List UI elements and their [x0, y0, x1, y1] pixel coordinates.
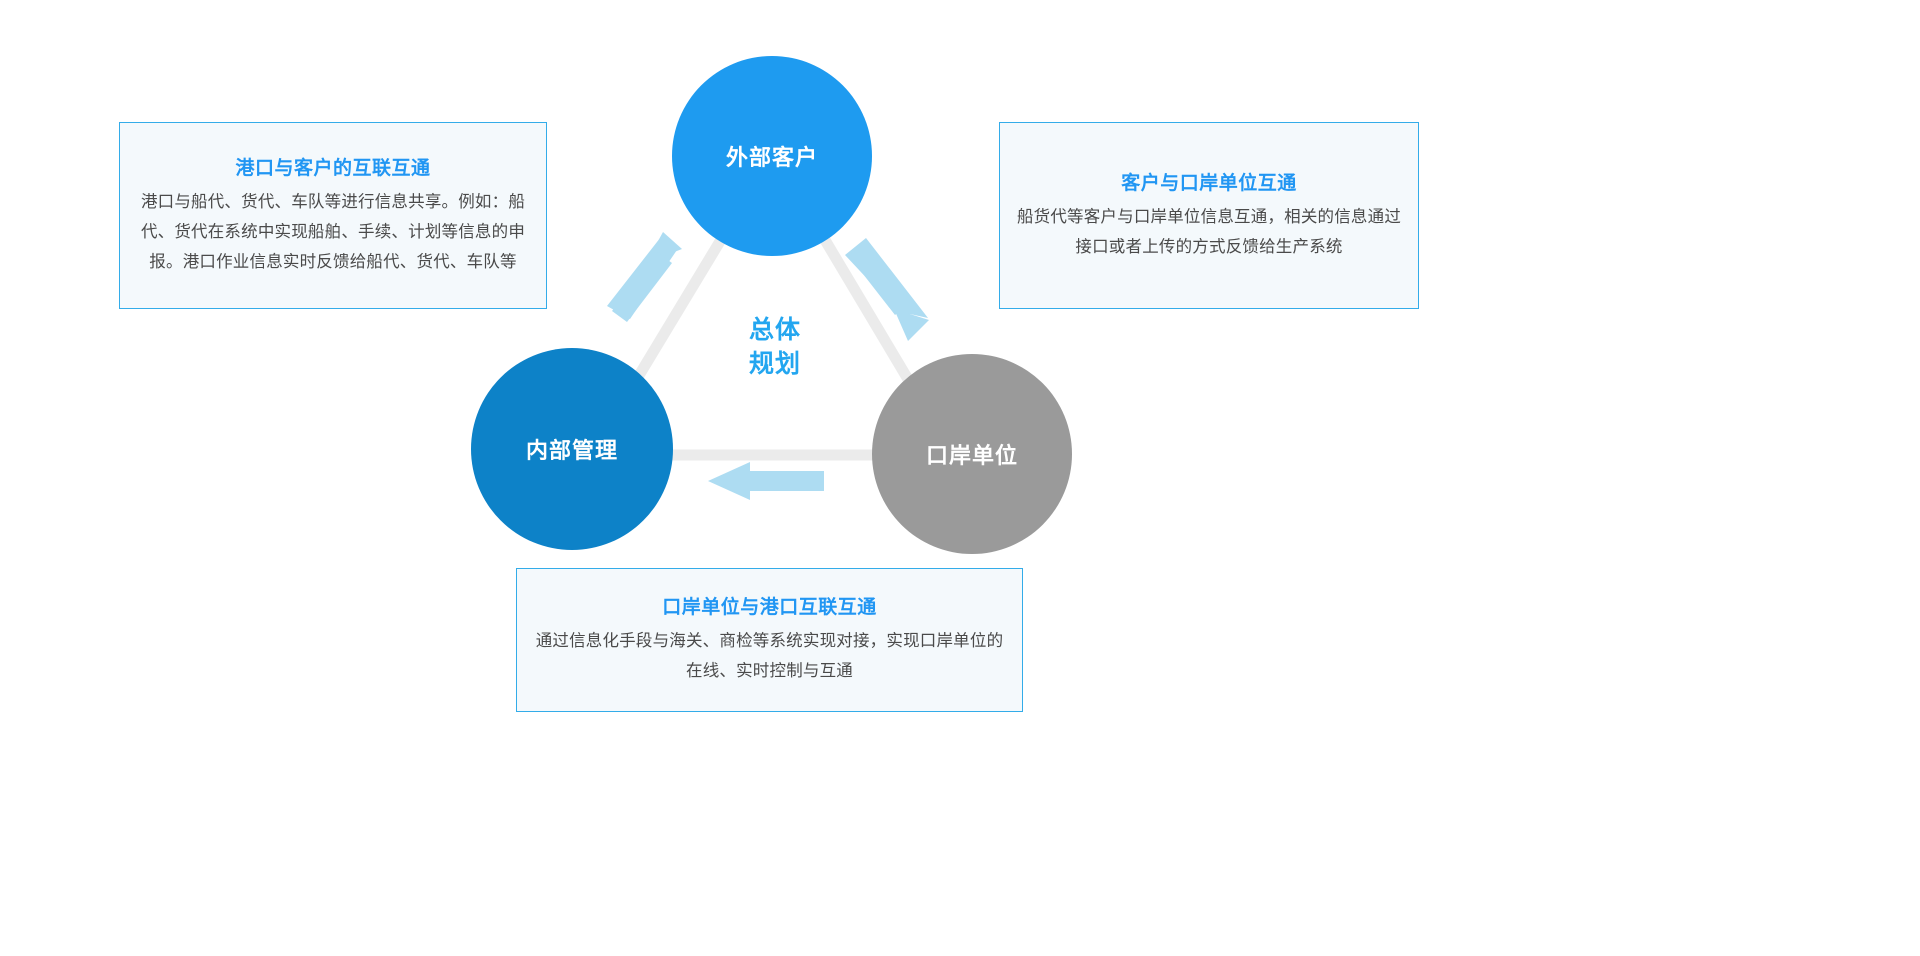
node-port-authority-label: 口岸单位: [926, 438, 1018, 470]
node-internal-management-label: 内部管理: [526, 433, 618, 465]
node-internal-management[interactable]: 内部管理: [471, 348, 673, 550]
diagram-canvas: 外部客户 内部管理 口岸单位 总体 规划 港口与客户的互联互通 港口与船代、货代…: [0, 0, 1920, 956]
arrow-right-to-left: [708, 462, 824, 500]
arrow-top-to-right: [845, 238, 929, 341]
arrow-left-to-top: [607, 232, 682, 322]
center-label-line-2: 规划: [705, 347, 845, 381]
infobox-port-authority-port: 口岸单位与港口互联互通 通过信息化手段与海关、商检等系统实现对接，实现口岸单位的…: [516, 568, 1023, 712]
node-external-customer-label: 外部客户: [726, 140, 818, 172]
infobox-port-customer-title: 港口与客户的互联互通: [134, 155, 532, 183]
node-port-authority[interactable]: 口岸单位: [872, 354, 1072, 554]
center-label-line-1: 总体: [705, 313, 845, 347]
infobox-customer-port-authority: 客户与口岸单位互通 船货代等客户与口岸单位信息互通，相关的信息通过接口或者上传的…: [999, 122, 1419, 309]
infobox-port-customer: 港口与客户的互联互通 港口与船代、货代、车队等进行信息共享。例如：船代、货代在系…: [119, 122, 547, 309]
center-label: 总体 规划: [705, 313, 845, 381]
infobox-customer-port-authority-body: 船货代等客户与口岸单位信息互通，相关的信息通过接口或者上传的方式反馈给生产系统: [1014, 202, 1404, 262]
infobox-port-authority-port-body: 通过信息化手段与海关、商检等系统实现对接，实现口岸单位的在线、实时控制与互通: [531, 626, 1008, 686]
node-external-customer[interactable]: 外部客户: [672, 56, 872, 256]
infobox-port-authority-port-title: 口岸单位与港口互联互通: [531, 594, 1008, 622]
infobox-port-customer-body: 港口与船代、货代、车队等进行信息共享。例如：船代、货代在系统中实现船舶、手续、计…: [134, 187, 532, 277]
infobox-customer-port-authority-title: 客户与口岸单位互通: [1014, 170, 1404, 198]
